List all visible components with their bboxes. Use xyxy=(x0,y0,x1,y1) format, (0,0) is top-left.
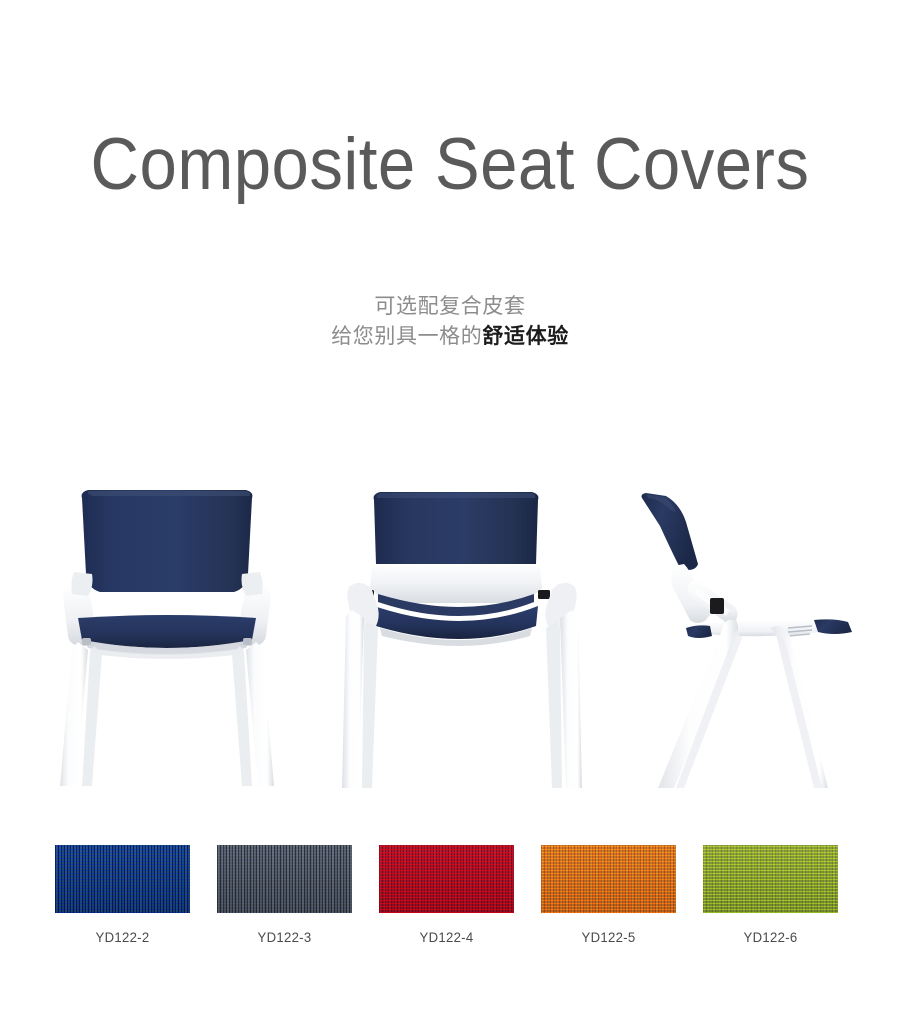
swatch-label: YD122-5 xyxy=(545,929,672,945)
swatch-label: YD122-3 xyxy=(221,929,348,945)
subtitle-line-1: 可选配复合皮套 xyxy=(0,292,900,322)
swatch-item[interactable]: YD122-2 xyxy=(55,845,190,945)
weave-texture xyxy=(379,845,514,913)
swatch-label: YD122-4 xyxy=(383,929,510,945)
swatch-item[interactable]: YD122-3 xyxy=(217,845,352,945)
swatch-label: YD122-6 xyxy=(707,929,834,945)
fabric-swatch-strip: YD122-2 YD122-3 YD122-4 YD122-5 YD122-6 xyxy=(55,845,855,945)
chair-gallery xyxy=(0,470,900,810)
swatch-chip-yd122-6[interactable] xyxy=(703,845,838,913)
page-title: Composite Seat Covers xyxy=(36,128,864,202)
swatch-chip-yd122-5[interactable] xyxy=(541,845,676,913)
swatch-label: YD122-2 xyxy=(59,929,186,945)
swatch-chip-yd122-2[interactable] xyxy=(55,845,190,913)
weave-texture xyxy=(703,845,838,913)
chair-back-view xyxy=(336,470,588,810)
subtitle-line-2-emphasis: 舒适体验 xyxy=(482,325,568,348)
weave-texture xyxy=(217,845,352,913)
swatch-item[interactable]: YD122-6 xyxy=(703,845,838,945)
chair-front-illustration xyxy=(38,470,296,810)
weave-texture xyxy=(541,845,676,913)
chair-front-view xyxy=(38,470,296,810)
subtitle-block: 可选配复合皮套 给您别具一格的舒适体验 xyxy=(0,292,900,352)
swatch-chip-yd122-3[interactable] xyxy=(217,845,352,913)
weave-texture xyxy=(55,845,190,913)
chair-side-illustration xyxy=(636,470,880,810)
swatch-chip-yd122-4[interactable] xyxy=(379,845,514,913)
swatch-item[interactable]: YD122-5 xyxy=(541,845,676,945)
hero-section: Composite Seat Covers xyxy=(0,128,900,202)
subtitle-line-2: 给您别具一格的舒适体验 xyxy=(0,322,900,352)
chair-back-illustration xyxy=(336,470,588,810)
chair-side-view xyxy=(636,470,880,810)
swatch-item[interactable]: YD122-4 xyxy=(379,845,514,945)
subtitle-line-2-normal: 给您别具一格的 xyxy=(331,325,482,348)
